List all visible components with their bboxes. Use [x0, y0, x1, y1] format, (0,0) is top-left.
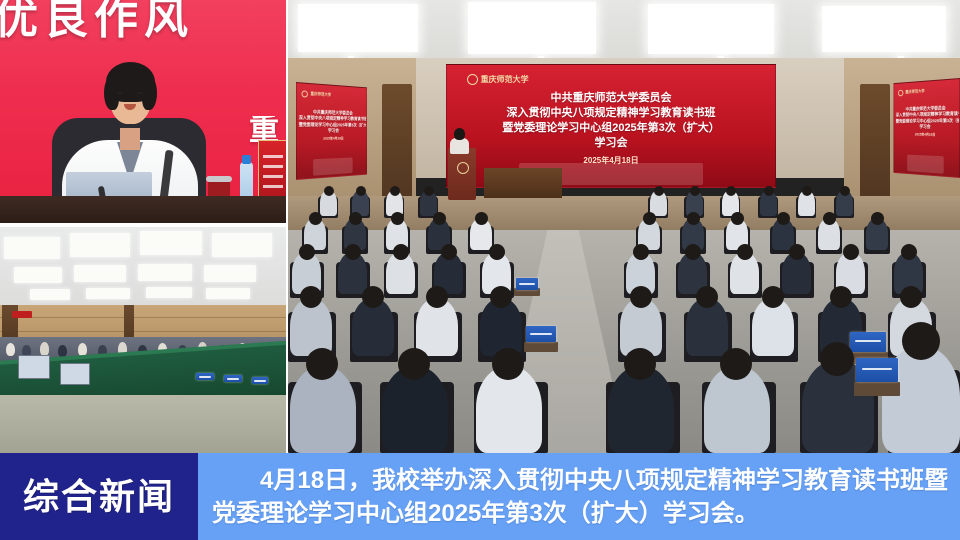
photo-collage: 优良作风 重 — [0, 0, 960, 453]
news-collage-page: 优良作风 重 — [0, 0, 960, 540]
emblem-name-main: 重庆师范大学 — [481, 74, 529, 85]
nameplate-row-c-1 — [516, 278, 538, 290]
university-emblem-left: 重庆师范大学 — [302, 90, 332, 99]
led-left-date: 2025年4月18日 — [299, 136, 365, 142]
emblem-name-left: 重庆师范大学 — [311, 91, 332, 98]
led-left-podium-graphic — [314, 157, 353, 176]
nameplate-row-d-1 — [526, 326, 556, 342]
nameplate-row-d-2 — [850, 332, 886, 352]
led-right-podium-graphic — [907, 155, 943, 174]
speaker-eye-left — [117, 92, 123, 94]
hall-ceiling — [0, 227, 286, 309]
photo-speaker: 优良作风 重 — [0, 0, 286, 223]
hall-monitor-1 — [18, 355, 50, 379]
emblem-circle-icon — [467, 74, 478, 85]
photo-hall — [0, 227, 286, 453]
stage-table — [484, 168, 562, 198]
caption-text: 4月18日，我校举办深入贯彻中央八项规定精神学习教育读书班暨党委理论学习中心组2… — [212, 464, 952, 530]
caption-body: 4月18日，我校举办深入贯彻中央八项规定精神学习教育读书班暨党委理论学习中心组2… — [198, 453, 960, 540]
photo-main-auditorium: 重庆师范大学 中共重庆师范大学委员会 深入贯彻中央八项规定精神学习教育读书班 暨… — [288, 0, 960, 453]
hall-room-sign — [12, 311, 32, 318]
emblem-circle-icon — [898, 90, 903, 97]
caption-bar: 综合新闻 4月18日，我校举办深入贯彻中央八项规定精神学习教育读书班暨党委理论学… — [0, 453, 960, 540]
podium-desk — [0, 196, 286, 223]
podium-emblem-icon — [457, 162, 469, 174]
podium — [448, 148, 476, 200]
speaker-neck — [120, 128, 140, 150]
category-badge[interactable]: 综合新闻 — [0, 453, 198, 540]
emblem-circle-icon — [302, 90, 308, 97]
tea-cup-lid — [206, 176, 232, 182]
collage-seam-horizontal — [0, 223, 288, 227]
speaker-hair-right — [142, 76, 157, 110]
hall-nameplate-1 — [196, 373, 214, 380]
led-right-line4: 学习会 — [896, 124, 957, 130]
emblem-name-right: 重庆师范大学 — [905, 89, 924, 96]
led-main-line3: 暨党委理论学习中心组2025年第3次（扩大） — [451, 121, 771, 136]
category-badge-label: 综合新闻 — [23, 477, 175, 517]
led-right-date: 2025年4月18日 — [896, 132, 957, 137]
university-emblem-main: 重庆师范大学 — [467, 74, 529, 85]
nameplate-front-row — [856, 358, 898, 382]
led-screen-right: 重庆师范大学 中共重庆师范大学委员会 深入贯彻中央八项规定精神学习教育读书班 暨… — [893, 78, 960, 178]
led-main-line2: 深入贯彻中央八项规定精神学习教育读书班 — [451, 106, 771, 121]
hall-nameplate-2 — [224, 375, 242, 382]
hall-monitor-2 — [60, 363, 90, 385]
led-main-line4: 学习会 — [451, 136, 771, 151]
led-main-line1: 中共重庆师范大学委员会 — [451, 91, 771, 106]
speaker-eye-right — [137, 92, 143, 94]
led-left-line4: 学习会 — [299, 128, 365, 134]
led-screen-left: 重庆师范大学 中共重庆师范大学委员会 深入贯彻中央八项规定精神学习教育读书班 暨… — [296, 82, 367, 180]
stage-speaker-body — [450, 138, 469, 154]
water-bottle-cap — [242, 155, 251, 164]
hall-nameplate-3 — [252, 377, 268, 384]
hall-floor — [0, 395, 286, 453]
stage-speaker-head — [454, 128, 465, 140]
auditorium-ceiling — [288, 0, 960, 62]
auditorium-door-right — [860, 84, 890, 204]
backdrop-headline: 优良作风 — [0, 0, 286, 42]
